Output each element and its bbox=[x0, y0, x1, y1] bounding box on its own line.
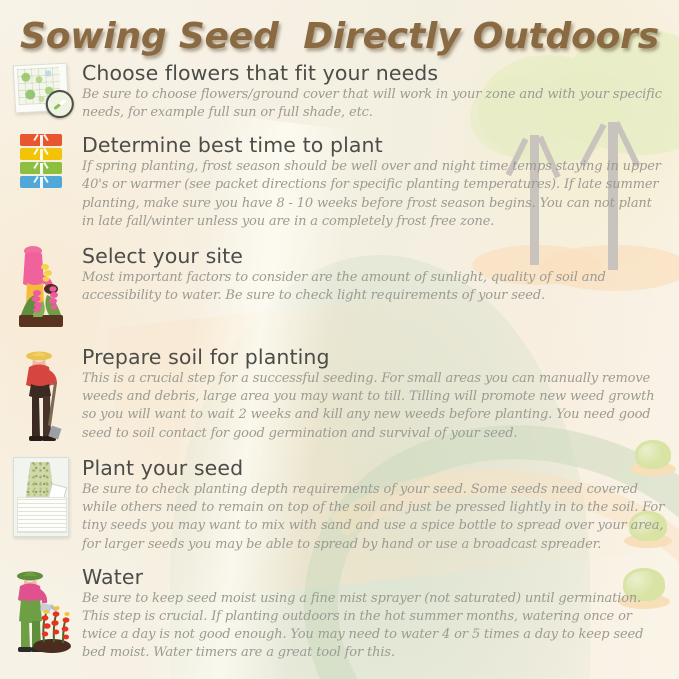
step-row-choose-flowers: Choose flowers that fit your needs Be su… bbox=[0, 62, 679, 122]
gardener-with-shovel-svg bbox=[13, 346, 69, 442]
step-body: This is a crucial step for a successful … bbox=[82, 370, 665, 443]
step-heading: Select your site bbox=[82, 245, 665, 268]
step-text: Choose flowers that fit your needs Be su… bbox=[82, 62, 679, 122]
step-row-prepare-soil: Prepare soil for planting This is a cruc… bbox=[0, 346, 679, 447]
step-icon-cell bbox=[0, 566, 82, 659]
step-heading: Determine best time to plant bbox=[82, 134, 665, 157]
step-text: Select your site Most important factors … bbox=[82, 245, 679, 305]
gardener-with-shovel-icon bbox=[13, 346, 69, 447]
step-text: Water Be sure to keep seed moist using a… bbox=[82, 566, 679, 663]
infographic-poster: Sowing Seed Directly Outdoors bbox=[0, 0, 679, 679]
step-heading: Water bbox=[82, 566, 665, 589]
step-body: Be sure to check planting depth requirem… bbox=[82, 481, 665, 554]
step-row-determine-time: Determine best time to plant If spring p… bbox=[0, 134, 679, 231]
step-row-select-site: Select your site Most important factors … bbox=[0, 245, 679, 334]
step-row-water: Water Be sure to keep seed moist using a… bbox=[0, 566, 679, 663]
step-icon-cell bbox=[0, 457, 82, 537]
step-body: Most important factors to consider are t… bbox=[82, 269, 665, 305]
step-icon-cell bbox=[0, 346, 82, 447]
step-heading: Plant your seed bbox=[82, 457, 665, 480]
step-body: Be sure to choose flowers/ground cover t… bbox=[82, 86, 665, 122]
step-heading: Prepare soil for planting bbox=[82, 346, 665, 369]
step-text: Determine best time to plant If spring p… bbox=[82, 134, 679, 231]
step-icon-cell bbox=[0, 134, 82, 190]
gardener-watering-can-icon bbox=[8, 566, 74, 659]
gardener-planter-flowers-svg bbox=[13, 245, 69, 329]
steps-list: Choose flowers that fit your needs Be su… bbox=[0, 62, 679, 662]
step-body: If spring planting, frost season should … bbox=[82, 158, 665, 231]
gardener-watering-can-svg bbox=[8, 566, 74, 654]
step-heading: Choose flowers that fit your needs bbox=[82, 62, 665, 85]
step-row-plant-seed: Plant your seed Be sure to check plantin… bbox=[0, 457, 679, 554]
gardener-planter-flowers-icon bbox=[13, 245, 69, 334]
step-text: Plant your seed Be sure to check plantin… bbox=[82, 457, 679, 554]
seed-packet-pouring-icon bbox=[13, 457, 69, 537]
page-title: Sowing Seed Directly Outdoors bbox=[0, 16, 679, 57]
step-body: Be sure to keep seed moist using a fine … bbox=[82, 590, 665, 663]
step-icon-cell bbox=[0, 245, 82, 334]
step-icon-cell bbox=[0, 62, 82, 116]
garden-plan-compass-icon bbox=[12, 62, 70, 116]
four-seasons-icon bbox=[20, 134, 62, 190]
step-text: Prepare soil for planting This is a cruc… bbox=[82, 346, 679, 443]
